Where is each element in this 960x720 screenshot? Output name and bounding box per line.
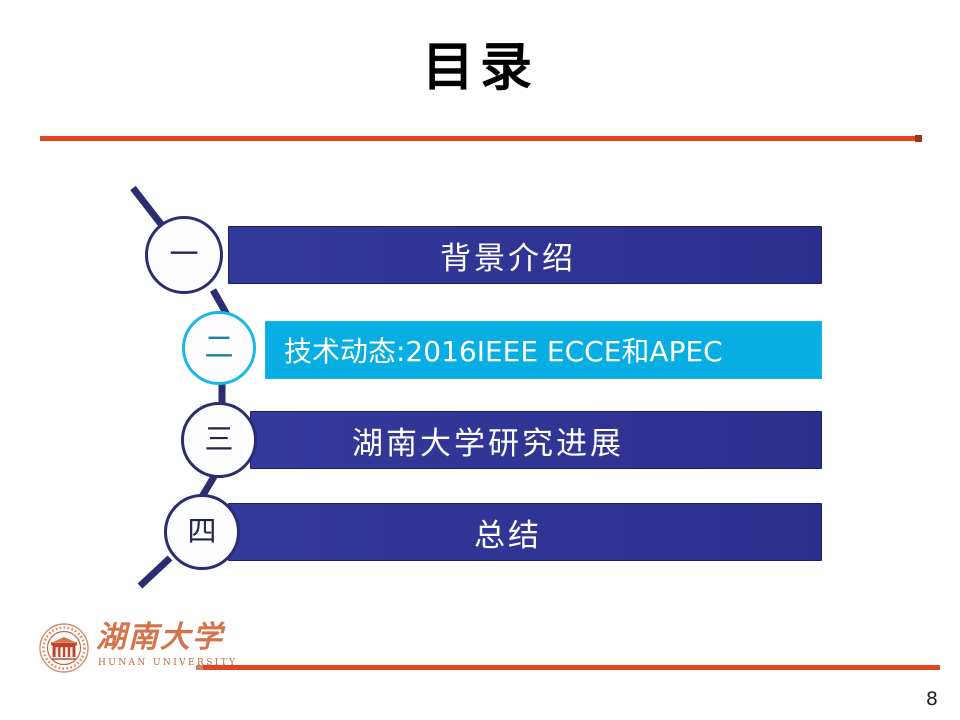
toc-marker-text-2: 二: [204, 333, 233, 362]
university-seal-icon: [38, 622, 90, 674]
toc-list: 背景介绍 一 技术动态:2016IEEE ECCE和APEC 二 湖南大学研究进…: [0, 0, 960, 720]
university-logo: 湖南大学 HUNAN UNIVERSITY: [38, 620, 208, 678]
toc-marker-text-4: 四: [187, 517, 216, 546]
toc-marker-text-1: 一: [169, 240, 198, 269]
toc-marker-4[interactable]: 四: [164, 494, 240, 570]
footer-divider-rule: [196, 665, 940, 670]
toc-bar-1[interactable]: 背景介绍: [228, 226, 822, 284]
toc-marker-text-3: 三: [204, 425, 233, 454]
toc-marker-3[interactable]: 三: [181, 402, 257, 478]
toc-marker-1[interactable]: 一: [145, 216, 223, 294]
page-number: 8: [926, 690, 938, 709]
toc-bar-3[interactable]: 湖南大学研究进展: [250, 411, 822, 469]
toc-label-3: 湖南大学研究进展: [352, 418, 720, 463]
slide-canvas: 目录 背景介绍 一: [0, 0, 960, 720]
toc-label-1: 背景介绍: [440, 233, 610, 278]
toc-bar-2[interactable]: 技术动态:2016IEEE ECCE和APEC: [265, 321, 822, 379]
toc-bar-4[interactable]: 总结: [228, 503, 822, 561]
university-name-cn: 湖南大学: [96, 620, 224, 656]
university-name-en: HUNAN UNIVERSITY: [98, 658, 237, 668]
toc-marker-2[interactable]: 二: [182, 311, 256, 385]
toc-label-4: 总结: [474, 510, 576, 555]
toc-label-2: 技术动态:2016IEEE ECCE和APEC: [266, 330, 723, 370]
